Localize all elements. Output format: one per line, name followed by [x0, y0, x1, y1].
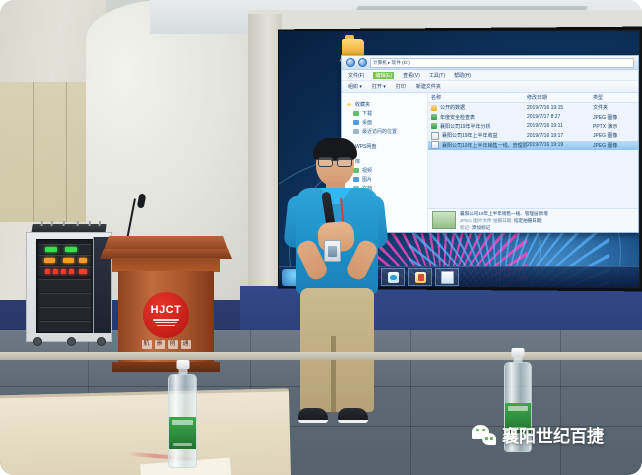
podium-logo-text: HJCT [151, 304, 182, 316]
xls-icon [431, 123, 437, 129]
sidebar-label: 最近访问的位置 [362, 128, 397, 135]
file-modified: 2019/7/17 8:27 [527, 114, 593, 120]
menu-item-file[interactable]: 文件(F) [348, 72, 364, 79]
stage-step-edge [0, 352, 642, 360]
status-tags-label: 标记: [460, 225, 470, 230]
podium-logo: HJCT [143, 292, 189, 338]
bottle-cap [512, 348, 525, 357]
file-modified: 2019/7/16 19:15 [527, 105, 593, 111]
status-date-value[interactable]: 指定拍摄日期 [514, 218, 542, 223]
podium-sub-char: 通 [181, 340, 191, 349]
file-name: 襄阳公司19年上半年销售一线、管理层... [442, 142, 527, 149]
preview-thumbnail [432, 211, 456, 229]
presenter-shoe-left [298, 408, 328, 423]
wall-acoustic-panel [0, 82, 100, 222]
file-name: 襄阳公司19年上半年收益 [442, 132, 498, 139]
sidebar-item-recent[interactable]: 最近访问的位置 [353, 128, 424, 135]
file-type: JPEG 图像 [593, 132, 638, 139]
podium-subtitle: 航 景 创 通 [136, 340, 196, 349]
doc-icon [431, 132, 439, 140]
presenter-pants [300, 288, 374, 412]
sidebar-item-favorites[interactable]: 收藏夹 [346, 101, 424, 108]
open-button[interactable]: 打开 ▾ [372, 83, 386, 90]
table-row[interactable]: 襄阳公司19年半年分析 2019/7/16 19:11 PPTX 演示 [428, 122, 638, 131]
status-filetype: JPEG 图片文件 [460, 218, 492, 223]
table-row[interactable]: 年度安全检查表 2019/7/17 8:27 JPEG 图像 [428, 112, 638, 121]
print-button[interactable]: 打印 [396, 83, 406, 90]
file-name: 公开的数据 [440, 104, 465, 111]
explorer-toolbar[interactable]: 组织 ▾ 打开 ▾ 打印 新建文件夹 [342, 81, 638, 93]
podium-sub-char: 航 [142, 340, 152, 349]
wechat-watermark: 襄阳世纪百捷 [472, 422, 604, 447]
sidebar-label: 下载 [362, 110, 372, 117]
audio-equipment-rack [26, 232, 112, 342]
presentation-photo: Administrator 计算机 ▸ 软件 (D:) 文件(F) 编辑(E) … [0, 0, 642, 475]
sidebar-item-desktop[interactable]: 桌面 [353, 119, 424, 126]
presenter [280, 140, 392, 432]
sidebar-item-downloads[interactable]: 下载 [353, 110, 424, 117]
status-date-label: 拍摄日期: [493, 218, 513, 223]
new-folder-button[interactable]: 新建文件夹 [416, 83, 441, 90]
file-type: PPTX 演示 [593, 123, 638, 130]
podium-sub-char: 景 [155, 340, 165, 349]
file-type: JPEG 图像 [593, 142, 638, 149]
presenter-shoe-right [338, 408, 368, 423]
column-name[interactable]: 名称 [431, 94, 527, 101]
podium-sub-char: 创 [168, 340, 178, 349]
podium-base [112, 362, 220, 372]
doc-icon [431, 141, 439, 149]
bottle-cap [176, 360, 189, 369]
file-type: JPEG 图像 [593, 114, 638, 121]
menu-item-tools[interactable]: 工具(T) [429, 72, 445, 79]
file-name: 年度安全检查表 [440, 114, 475, 121]
file-modified: 2019/7/16 19:11 [527, 123, 593, 129]
column-modified[interactable]: 修改日期 [527, 94, 593, 101]
recent-icon [353, 129, 359, 134]
column-headers[interactable]: 名称 修改日期 类型 [428, 93, 638, 103]
doc-icon [441, 271, 454, 284]
explorer-file-list[interactable]: 名称 修改日期 类型 公开的数据 2019/7/16 19:15 文件夹 年度安… [428, 93, 638, 233]
table-row-selected[interactable]: 襄阳公司19年上半年销售一线、管理层... 2019/7/16 19:19 JP… [428, 141, 638, 150]
file-modified: 2019/7/16 19:19 [527, 142, 593, 148]
download-icon [353, 111, 359, 116]
menu-item-view[interactable]: 查看(V) [403, 72, 420, 79]
taskbar-item-document[interactable] [435, 268, 459, 286]
explorer-menubar[interactable]: 文件(F) 编辑(E) 查看(V) 工具(T) 帮助(H) [342, 70, 638, 81]
xls-icon [431, 114, 437, 120]
id-badge [324, 240, 341, 262]
file-modified: 2019/7/16 19:17 [527, 133, 593, 139]
back-icon[interactable] [346, 58, 355, 67]
media-icon [415, 272, 426, 283]
foreground-table [0, 388, 291, 475]
sidebar-label: 收藏夹 [355, 101, 370, 108]
taskbar-item-media[interactable] [408, 268, 432, 286]
file-name: 襄阳公司19年半年分析 [440, 123, 491, 130]
glasses-icon [317, 157, 353, 165]
forward-icon[interactable] [358, 58, 367, 67]
watermark-text: 襄阳世纪百捷 [502, 422, 604, 447]
bottle-body [168, 374, 197, 468]
table-row[interactable]: 公开的数据 2019/7/16 19:15 文件夹 [428, 103, 638, 112]
star-icon [346, 102, 352, 107]
file-type: 文件夹 [593, 104, 638, 111]
sidebar-label: 桌面 [362, 119, 372, 126]
desktop-icon [353, 120, 359, 125]
menu-item-help[interactable]: 帮助(H) [454, 72, 471, 79]
explorer-status-bar: 襄阳公司19年上半年销售一线、管理层新增 JPEG 图片文件 拍摄日期: 指定拍… [428, 208, 638, 233]
folder-icon [431, 105, 437, 111]
podium-logo-bars [153, 318, 179, 326]
status-filename: 襄阳公司19年上半年销售一线、管理层新增 [460, 211, 548, 218]
explorer-titlebar[interactable]: 计算机 ▸ 软件 (D:) [342, 56, 638, 70]
bottle-label [169, 417, 196, 448]
organize-button[interactable]: 组织 ▾ [348, 83, 362, 90]
podium-top [104, 236, 228, 250]
status-tags-value[interactable]: 添加标记 [472, 225, 490, 230]
menu-item-edit[interactable]: 编辑(E) [373, 72, 394, 79]
water-bottle-left [168, 360, 197, 468]
podium-neck [112, 258, 220, 272]
table-row[interactable]: 襄阳公司19年上半年收益 2019/7/16 19:17 JPEG 图像 [428, 131, 638, 140]
address-bar[interactable]: 计算机 ▸ 软件 (D:) [370, 58, 634, 68]
rack-units [36, 239, 94, 333]
wechat-icon [472, 425, 496, 445]
column-type[interactable]: 类型 [593, 94, 638, 101]
